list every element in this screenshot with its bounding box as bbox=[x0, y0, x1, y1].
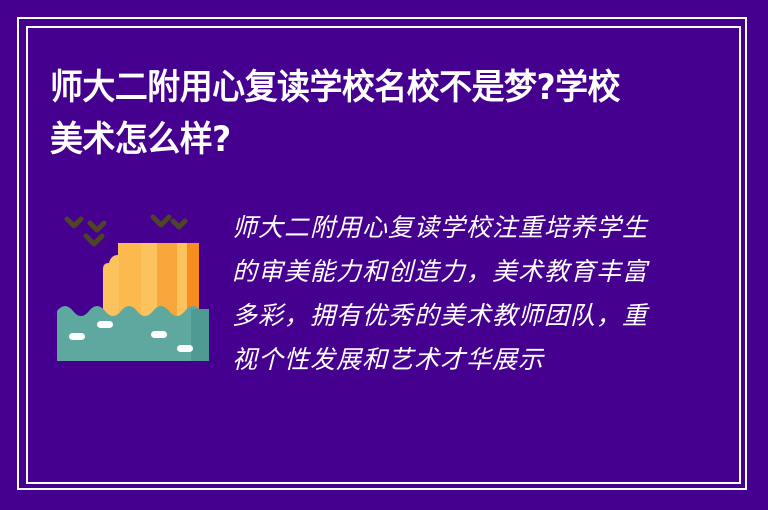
article-body-text: 师大二附用心复读学校注重培养学生的审美能力和创造力，美术教育丰富多彩，拥有优秀的… bbox=[232, 206, 657, 382]
page-title: 师大二附用心复读学校名校不是梦?学校美术怎么样? bbox=[50, 62, 633, 166]
seaside-cliff-illustration bbox=[57, 205, 209, 361]
poster-canvas: 师大二附用心复读学校名校不是梦?学校美术怎么样? bbox=[0, 0, 768, 510]
